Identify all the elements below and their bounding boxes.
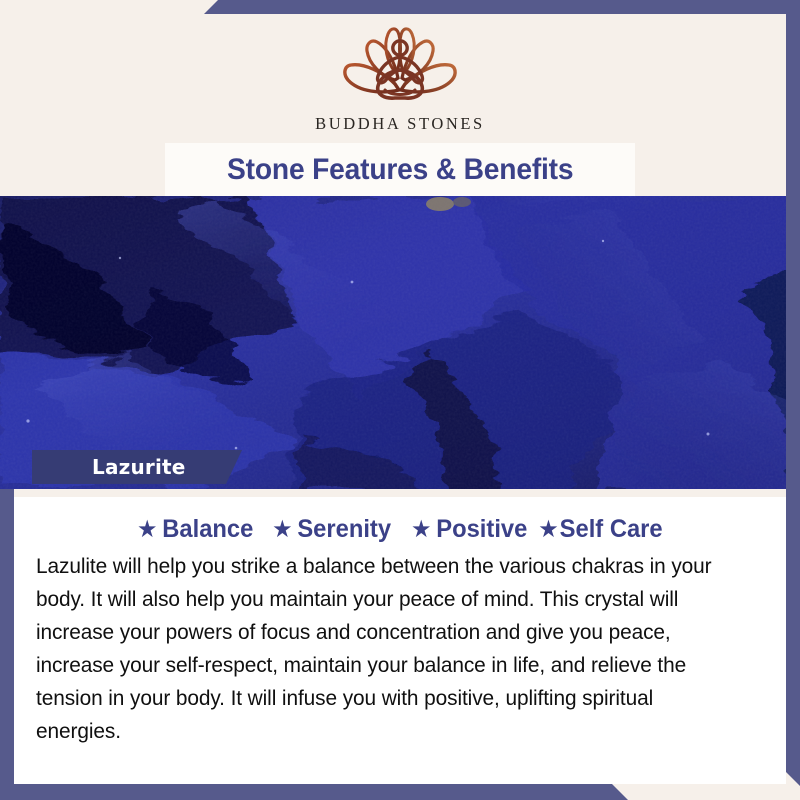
frame-accent-right — [786, 0, 800, 800]
keyword-label: Serenity — [298, 517, 392, 542]
keyword-label: Self Care — [560, 517, 663, 542]
keyword-self-care: ★ Self Care — [538, 517, 662, 542]
frame-accent-left — [0, 489, 14, 800]
star-icon: ★ — [538, 518, 558, 542]
poster-root: BUDDHA STONES Stone Features & Benefits — [0, 0, 800, 800]
stone-photo — [0, 196, 800, 489]
title-panel: Stone Features & Benefits — [165, 143, 635, 196]
keyword-balance: ★ Balance — [137, 517, 253, 542]
brand-logo: BUDDHA STONES — [0, 18, 800, 134]
stone-name-banner: Lazurite — [32, 450, 242, 484]
keyword-label: Positive — [436, 517, 527, 542]
page-title: Stone Features & Benefits — [227, 153, 573, 187]
stone-description: Lazulite will help you strike a balance … — [36, 550, 742, 748]
star-icon: ★ — [273, 518, 293, 542]
keyword-label: Balance — [162, 517, 253, 542]
content-card-gap — [14, 489, 786, 497]
keyword-serenity: ★ Serenity — [273, 517, 392, 542]
keyword-positive: ★ Positive — [411, 517, 527, 542]
frame-accent-bottom — [0, 784, 800, 800]
keyword-list: ★ Balance ★ Serenity ★ Positive ★ Self C… — [36, 517, 764, 542]
brand-name: BUDDHA STONES — [315, 114, 485, 134]
stone-name-label: Lazurite — [92, 455, 186, 479]
star-icon: ★ — [411, 518, 431, 542]
lotus-meditation-figure-icon — [325, 18, 475, 110]
star-icon: ★ — [137, 518, 157, 542]
lazurite-stone-image — [0, 196, 800, 489]
content-card: ★ Balance ★ Serenity ★ Positive ★ Self C… — [14, 497, 786, 784]
